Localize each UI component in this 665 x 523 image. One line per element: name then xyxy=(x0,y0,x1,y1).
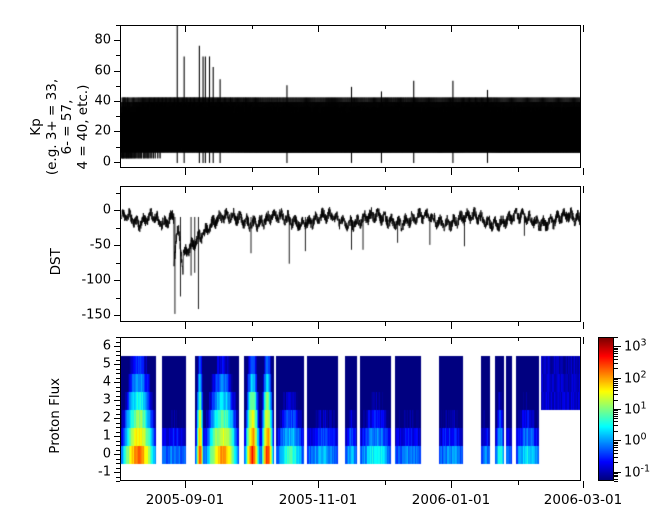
y-tick-label: 20 xyxy=(94,124,111,139)
colorbar-tick-minor xyxy=(614,379,618,380)
colorbar-tick-minor xyxy=(614,387,618,388)
y-tick-minor xyxy=(116,441,120,442)
colorbar-tick-label: 103 xyxy=(624,338,647,355)
x-tick-major xyxy=(318,481,319,488)
colorbar-gradient xyxy=(598,337,614,481)
y-tick-minor xyxy=(116,228,120,229)
proton-flux-heatmap-canvas xyxy=(121,338,581,481)
colorbar-tick-minor xyxy=(614,353,618,354)
colorbar-tick-minor xyxy=(614,473,618,474)
proton-flux-axis-title: Proton Flux xyxy=(48,356,64,476)
y-tick-major xyxy=(114,162,120,163)
y-tick-minor xyxy=(116,360,120,361)
y-tick-label: 0 xyxy=(103,154,111,169)
x-tick-top xyxy=(451,186,452,193)
x-tick-major xyxy=(185,168,186,175)
y-tick-minor xyxy=(116,342,120,343)
colorbar-tick-major xyxy=(614,472,621,473)
y-tick-major xyxy=(114,71,120,72)
y-tick-major xyxy=(114,364,120,365)
colorbar-tick-label: 100 xyxy=(624,432,647,449)
kp-axis-title-line-1: Kp xyxy=(29,47,45,207)
x-axis-date-label: 2005-11-01 xyxy=(279,492,357,508)
y-tick-minor xyxy=(116,481,120,482)
x-tick-top xyxy=(318,186,319,193)
colorbar-tick-minor xyxy=(614,431,618,432)
x-tick-minor xyxy=(252,322,253,326)
y-tick-major xyxy=(114,101,120,102)
y-tick-label: -50 xyxy=(90,238,111,253)
colorbar-tick-minor xyxy=(614,457,618,458)
y-tick-major xyxy=(114,315,120,316)
x-tick-major xyxy=(318,322,319,329)
x-axis-date-label: 2006-01-01 xyxy=(412,492,490,508)
x-tick-top-minor xyxy=(518,186,519,190)
colorbar-tick-minor xyxy=(614,462,618,463)
y-tick-minor xyxy=(116,147,120,148)
y-tick-label: 4 xyxy=(103,375,111,390)
proton-flux-axis-title-text: Proton Flux xyxy=(47,378,63,454)
y-tick-minor xyxy=(116,423,120,424)
y-tick-major xyxy=(114,280,120,281)
colorbar-label-exponent: -1 xyxy=(641,463,650,474)
x-tick-top xyxy=(583,25,584,32)
y-tick-label: -1 xyxy=(98,465,111,480)
y-tick-label: -150 xyxy=(81,308,111,323)
colorbar-label-exponent: 0 xyxy=(641,432,647,443)
colorbar-tick-minor xyxy=(614,418,618,419)
y-tick-minor xyxy=(116,409,120,410)
kp-axis-title-line-3: 6- = 57, xyxy=(60,47,76,207)
y-tick-label: 5 xyxy=(103,357,111,372)
colorbar-tick-minor xyxy=(614,383,618,384)
colorbar-tick-minor xyxy=(614,443,618,444)
colorbar-tick-minor xyxy=(614,421,618,422)
y-tick-minor xyxy=(116,378,120,379)
x-tick-top xyxy=(583,186,584,193)
y-tick-label: 80 xyxy=(94,33,111,48)
x-tick-major xyxy=(185,481,186,488)
colorbar-tick-minor xyxy=(614,425,618,426)
y-tick-label: 2 xyxy=(103,411,111,426)
colorbar-tick-minor xyxy=(614,337,618,338)
y-tick-minor xyxy=(116,337,120,338)
y-tick-minor xyxy=(116,369,120,370)
y-tick-minor xyxy=(116,351,120,352)
y-tick-major xyxy=(114,346,120,347)
colorbar-tick-major xyxy=(614,346,621,347)
colorbar-tick-minor xyxy=(614,453,618,454)
x-tick-major xyxy=(583,168,584,175)
x-tick-minor xyxy=(518,322,519,326)
x-tick-major xyxy=(451,168,452,175)
x-tick-major xyxy=(451,322,452,329)
colorbar-tick-minor xyxy=(614,359,618,360)
colorbar-tick-minor xyxy=(614,400,618,401)
colorbar-label-exponent: 3 xyxy=(641,338,647,349)
x-tick-minor xyxy=(518,481,519,485)
x-tick-major xyxy=(185,322,186,329)
y-tick-major xyxy=(114,40,120,41)
x-axis-date-label: 2006-03-01 xyxy=(544,492,622,508)
dst-series-canvas xyxy=(121,187,581,322)
x-tick-minor xyxy=(385,481,386,485)
kp-axis-title: Kp (e.g. 3+ = 33, 6- = 57, 4 = 40, etc.) xyxy=(29,47,91,207)
y-tick-minor xyxy=(116,432,120,433)
x-tick-minor xyxy=(252,481,253,485)
x-tick-top-minor xyxy=(518,25,519,29)
y-tick-major xyxy=(114,472,120,473)
colorbar-tick-minor xyxy=(614,356,618,357)
x-tick-major xyxy=(451,481,452,488)
colorbar-label-mantissa: 10 xyxy=(624,403,641,418)
colorbar-label-exponent: 1 xyxy=(641,400,647,411)
colorbar-tick-minor xyxy=(614,363,618,364)
x-tick-top-minor xyxy=(385,25,386,29)
y-tick-minor xyxy=(116,193,120,194)
colorbar-tick-minor xyxy=(614,348,618,349)
colorbar-tick-minor xyxy=(614,476,618,477)
colorbar-tick-minor xyxy=(614,390,618,391)
x-tick-top-minor xyxy=(518,337,519,341)
colorbar-tick-label: 101 xyxy=(624,400,647,417)
x-tick-top-minor xyxy=(252,25,253,29)
dst-axis-title-text: DST xyxy=(48,248,64,275)
x-tick-top xyxy=(185,25,186,32)
y-tick-label: 3 xyxy=(103,393,111,408)
kp-axis-title-line-2: (e.g. 3+ = 33, xyxy=(44,47,60,207)
y-tick-minor xyxy=(116,459,120,460)
x-tick-major xyxy=(583,322,584,329)
x-tick-top-minor xyxy=(385,337,386,341)
colorbar-tick-minor xyxy=(614,414,618,415)
y-tick-minor xyxy=(116,468,120,469)
y-tick-minor xyxy=(116,450,120,451)
y-tick-major xyxy=(114,245,120,246)
colorbar-tick-minor xyxy=(614,479,618,480)
y-tick-major xyxy=(114,210,120,211)
y-tick-minor xyxy=(116,414,120,415)
colorbar-label-exponent: 2 xyxy=(641,369,647,380)
y-tick-label: -100 xyxy=(81,273,111,288)
y-tick-minor xyxy=(116,298,120,299)
x-tick-top xyxy=(451,337,452,344)
y-tick-minor xyxy=(116,391,120,392)
y-tick-minor xyxy=(116,463,120,464)
colorbar-tick-minor xyxy=(614,450,618,451)
x-tick-minor xyxy=(518,168,519,172)
x-tick-top-minor xyxy=(252,186,253,190)
y-tick-label: 1 xyxy=(103,429,111,444)
colorbar-tick-minor xyxy=(614,351,618,352)
kp-series-canvas xyxy=(121,26,581,168)
colorbar-tick-major xyxy=(614,378,621,379)
y-tick-label: 40 xyxy=(94,94,111,109)
colorbar-tick-major xyxy=(614,440,621,441)
y-tick-label: 6 xyxy=(103,339,111,354)
colorbar-label-mantissa: 10 xyxy=(624,340,641,355)
colorbar-tick-major xyxy=(614,409,621,410)
colorbar-label-mantissa: 10 xyxy=(624,434,641,449)
y-tick-major xyxy=(114,418,120,419)
x-tick-top-minor xyxy=(385,186,386,190)
y-tick-minor xyxy=(116,86,120,87)
colorbar-tick-minor xyxy=(614,447,618,448)
x-tick-top xyxy=(185,186,186,193)
x-tick-top xyxy=(318,337,319,344)
colorbar-tick-minor xyxy=(614,394,618,395)
colorbar-tick-minor xyxy=(614,410,618,411)
colorbar-tick-minor xyxy=(614,475,618,476)
colorbar-tick-minor xyxy=(614,416,618,417)
colorbar-tick-minor xyxy=(614,445,618,446)
y-tick-major xyxy=(114,382,120,383)
dst-axis-title: DST xyxy=(49,232,65,292)
y-tick-minor xyxy=(116,355,120,356)
x-tick-top xyxy=(451,25,452,32)
y-tick-minor xyxy=(116,427,120,428)
colorbar-tick-minor xyxy=(614,412,618,413)
y-tick-minor xyxy=(116,116,120,117)
colorbar-label-mantissa: 10 xyxy=(624,371,641,386)
y-tick-minor xyxy=(116,387,120,388)
colorbar-tick-minor xyxy=(614,349,618,350)
kp-axis-title-line-4: 4 = 40, etc.) xyxy=(76,47,92,207)
y-tick-minor xyxy=(116,373,120,374)
x-tick-top xyxy=(583,337,584,344)
colorbar-tick-minor xyxy=(614,385,618,386)
y-tick-label: 0 xyxy=(103,447,111,462)
colorbar-label-mantissa: 10 xyxy=(624,465,641,480)
x-tick-top xyxy=(318,25,319,32)
y-tick-minor xyxy=(116,55,120,56)
x-tick-major xyxy=(583,481,584,488)
x-tick-top xyxy=(185,337,186,344)
panel-proton-flux xyxy=(120,337,581,481)
y-tick-label: 0 xyxy=(103,203,111,218)
colorbar-tick-label: 10-1 xyxy=(624,463,650,480)
y-tick-major xyxy=(114,454,120,455)
y-tick-minor xyxy=(116,263,120,264)
panel-dst xyxy=(120,186,581,322)
x-tick-major xyxy=(318,168,319,175)
colorbar-tick-minor xyxy=(614,481,618,482)
colorbar-tick-minor xyxy=(614,368,618,369)
y-tick-major xyxy=(114,436,120,437)
colorbar-tick-minor xyxy=(614,442,618,443)
y-tick-minor xyxy=(116,405,120,406)
colorbar-tick-minor xyxy=(614,381,618,382)
panel-kp xyxy=(120,25,581,168)
y-tick-minor xyxy=(116,445,120,446)
colorbar-tick-label: 102 xyxy=(624,369,647,386)
y-tick-label: 60 xyxy=(94,63,111,78)
y-tick-major xyxy=(114,400,120,401)
y-tick-minor xyxy=(116,477,120,478)
y-tick-major xyxy=(114,131,120,132)
x-tick-minor xyxy=(385,168,386,172)
y-tick-minor xyxy=(116,25,120,26)
y-tick-minor xyxy=(116,396,120,397)
x-tick-minor xyxy=(252,168,253,172)
x-tick-top-minor xyxy=(252,337,253,341)
figure-root: 020406080 Kp (e.g. 3+ = 33, 6- = 57, 4 =… xyxy=(0,0,665,523)
x-tick-minor xyxy=(385,322,386,326)
x-axis-date-label: 2005-09-01 xyxy=(146,492,224,508)
